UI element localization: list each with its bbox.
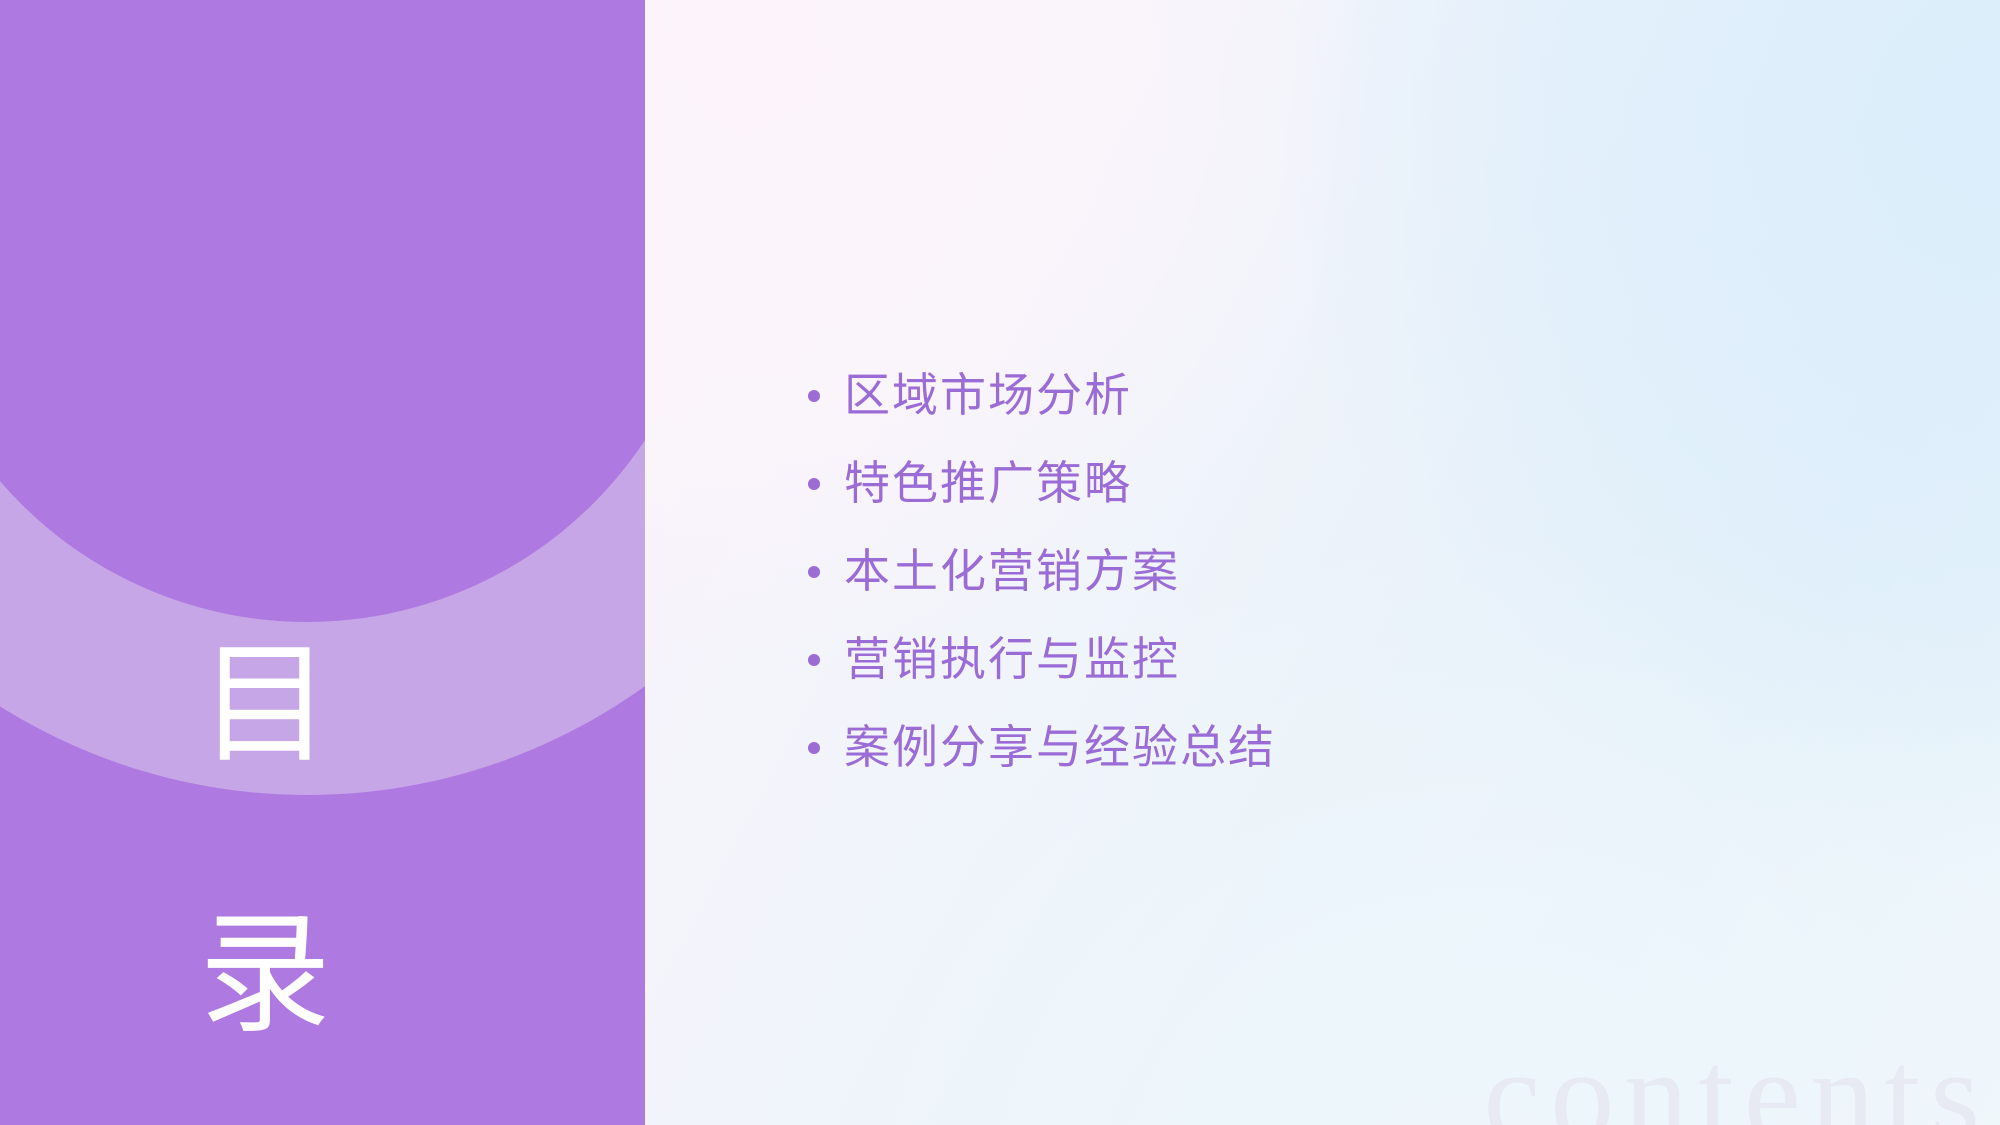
list-item-label: 营销执行与监控 bbox=[844, 637, 1180, 683]
page-title-char-2: 录 bbox=[150, 910, 380, 1042]
list-item-label: 特色推广策略 bbox=[844, 461, 1132, 507]
purple-sidebar: 目 录 bbox=[0, 0, 645, 1125]
page-title: 目 录 bbox=[150, 640, 380, 1042]
bullet-icon bbox=[808, 478, 820, 490]
slide-canvas: contents 目 录 区域市场分析 特色推广策略 本土化营销方案 营销执行与… bbox=[0, 0, 2000, 1125]
contents-watermark: contents bbox=[1483, 1031, 1990, 1125]
list-item[interactable]: 区域市场分析 bbox=[808, 352, 1708, 440]
decorative-ring-inner-circle bbox=[0, 0, 645, 622]
bullet-icon bbox=[808, 654, 820, 666]
list-item-label: 区域市场分析 bbox=[844, 373, 1132, 419]
bullet-icon bbox=[808, 742, 820, 754]
list-item[interactable]: 特色推广策略 bbox=[808, 440, 1708, 528]
list-item[interactable]: 案例分享与经验总结 bbox=[808, 704, 1708, 792]
list-item-label: 本土化营销方案 bbox=[844, 549, 1180, 595]
list-item[interactable]: 营销执行与监控 bbox=[808, 616, 1708, 704]
bullet-icon bbox=[808, 566, 820, 578]
list-item-label: 案例分享与经验总结 bbox=[844, 725, 1276, 771]
toc-list: 区域市场分析 特色推广策略 本土化营销方案 营销执行与监控 案例分享与经验总结 bbox=[808, 352, 1708, 792]
page-title-char-1: 目 bbox=[150, 640, 380, 772]
bullet-icon bbox=[808, 390, 820, 402]
list-item[interactable]: 本土化营销方案 bbox=[808, 528, 1708, 616]
